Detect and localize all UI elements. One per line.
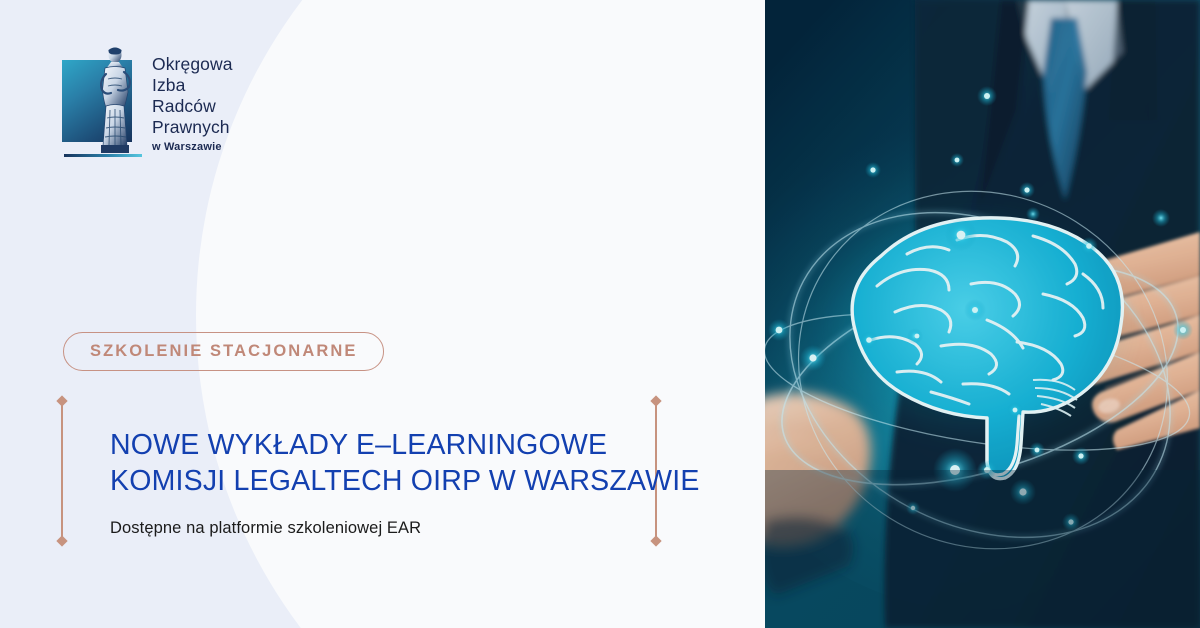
themis-statue-icon xyxy=(84,46,144,156)
logo-underline xyxy=(64,154,142,157)
headline-block: NOWE WYKŁADY E–LEARNINGOWE KOMISJI LEGAL… xyxy=(110,427,710,538)
hero-photo xyxy=(765,0,1200,628)
left-content-panel: Okręgowa Izba Radców Prawnych w Warszawi… xyxy=(0,0,765,628)
promo-banner: Okręgowa Izba Radców Prawnych w Warszawi… xyxy=(0,0,1200,628)
organization-logo[interactable]: Okręgowa Izba Radców Prawnych w Warszawi… xyxy=(62,46,292,168)
page-title-line-2: KOMISJI LEGALTECH OIRP W WARSZAWIE xyxy=(110,463,710,499)
logo-line-1: Okręgowa xyxy=(152,54,233,75)
logo-emblem xyxy=(62,46,144,156)
logo-line-2: Izba xyxy=(152,75,233,96)
page-title-line-1: NOWE WYKŁADY E–LEARNINGOWE xyxy=(110,429,607,461)
logo-wordmark: Okręgowa Izba Radców Prawnych w Warszawi… xyxy=(152,54,233,154)
brain-hologram-illustration xyxy=(765,0,1200,628)
logo-city-line: w Warszawie xyxy=(152,141,233,154)
page-title: NOWE WYKŁADY E–LEARNINGOWE KOMISJI LEGAL… xyxy=(110,427,710,499)
rule-stem xyxy=(61,402,63,540)
logo-line-3: Radców xyxy=(152,96,233,117)
logo-line-4: Prawnych xyxy=(152,117,233,138)
vertical-rule-left xyxy=(56,396,68,546)
diamond-bottom-icon xyxy=(56,535,67,546)
page-subtitle: Dostępne na platformie szkoleniowej EAR xyxy=(110,519,710,538)
training-type-badge: SZKOLENIE STACJONARNE xyxy=(63,332,384,371)
